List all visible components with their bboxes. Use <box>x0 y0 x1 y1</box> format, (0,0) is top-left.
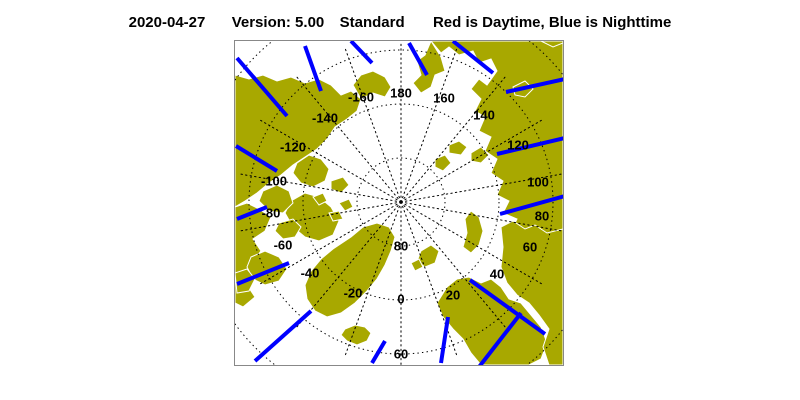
polar-map-frame: 180160140120100806040200-20-40-60-80-100… <box>234 40 564 366</box>
title-date: 2020-04-27 <box>129 14 206 31</box>
title-version: Version: 5.00 <box>232 14 325 31</box>
title-mode: Standard <box>340 14 405 31</box>
screenshot-root: 2020-04-27 Version: 5.00 Standard Red is… <box>0 0 800 400</box>
legend-text: Red is Daytime, Blue is Nighttime <box>433 14 671 31</box>
polar-stereographic-map <box>235 41 563 365</box>
page-title: 2020-04-27 Version: 5.00 Standard Red is… <box>0 14 800 31</box>
